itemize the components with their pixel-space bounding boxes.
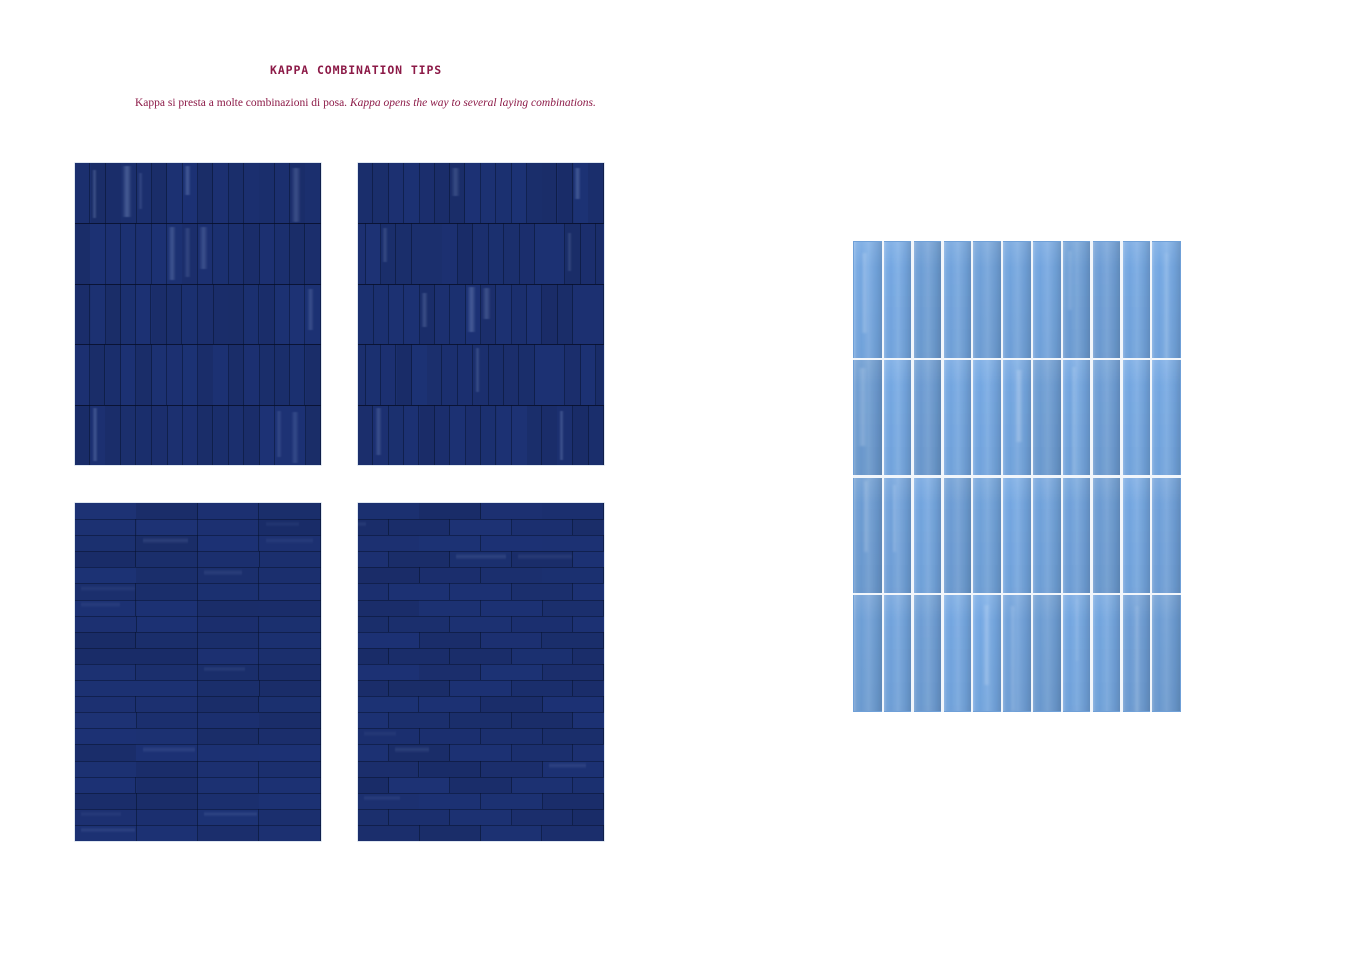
tile — [504, 344, 519, 404]
tile — [496, 284, 511, 344]
tile — [389, 744, 451, 760]
tile — [260, 616, 322, 632]
tile — [198, 809, 260, 825]
tile — [573, 519, 604, 535]
tile — [358, 344, 366, 404]
tile — [358, 519, 389, 535]
tile — [183, 163, 198, 223]
tile — [137, 405, 152, 465]
tile — [137, 809, 199, 825]
tile — [542, 567, 604, 583]
grout-line-horizontal — [358, 600, 604, 601]
tile — [136, 728, 198, 744]
tile-row — [75, 809, 321, 825]
tile — [1152, 595, 1179, 710]
tile-row — [75, 567, 321, 583]
tile — [458, 223, 473, 283]
tile — [481, 793, 543, 809]
tile-row — [358, 712, 604, 728]
tile — [1063, 242, 1090, 357]
tile — [75, 503, 137, 519]
tile — [259, 728, 321, 744]
tile — [481, 825, 543, 841]
tile — [137, 616, 199, 632]
tile — [543, 728, 604, 744]
tile — [275, 344, 290, 404]
tile-row — [75, 777, 321, 793]
tile — [198, 664, 260, 680]
tile-row — [358, 744, 604, 760]
tile — [358, 696, 419, 712]
tile-row — [75, 519, 321, 535]
tile — [450, 648, 512, 664]
tile — [260, 583, 321, 599]
tile — [75, 664, 136, 680]
tile — [75, 728, 137, 744]
tile — [1033, 478, 1060, 593]
tile — [358, 632, 420, 648]
tile — [542, 535, 604, 551]
tile — [542, 503, 604, 519]
tile — [512, 163, 527, 223]
tile-row — [358, 761, 604, 777]
tile — [404, 405, 419, 465]
tile — [198, 761, 260, 777]
tile-row — [75, 583, 321, 599]
tile — [443, 344, 458, 404]
tile — [358, 583, 389, 599]
tile — [589, 405, 604, 465]
tile — [550, 344, 565, 404]
tile — [373, 405, 388, 465]
tile — [167, 163, 182, 223]
tile — [465, 163, 480, 223]
page-title: KAPPA COMBINATION TIPS — [270, 63, 442, 77]
tile — [137, 712, 199, 728]
tile — [543, 761, 604, 777]
tile-row — [75, 680, 321, 696]
tile — [442, 223, 457, 283]
tile-row — [358, 648, 604, 664]
tile-row — [75, 284, 321, 344]
tile — [167, 344, 182, 404]
tile — [854, 595, 881, 710]
tile — [152, 284, 167, 344]
tile — [182, 284, 197, 344]
tile — [1033, 360, 1060, 475]
tile — [581, 223, 596, 283]
tile-row — [75, 223, 321, 283]
tile — [473, 223, 488, 283]
grout-line-horizontal — [358, 535, 604, 536]
tile — [290, 344, 305, 404]
tile — [260, 284, 275, 344]
tile — [557, 405, 572, 465]
tile — [290, 163, 305, 223]
tile — [136, 744, 198, 760]
tile — [1063, 360, 1090, 475]
tile — [450, 680, 512, 696]
tile — [259, 793, 321, 809]
tile — [596, 344, 604, 404]
tile — [435, 163, 450, 223]
tile — [512, 712, 574, 728]
grout-line-horizontal — [358, 761, 604, 762]
grout-line-horizontal — [75, 825, 321, 826]
tile-row — [358, 551, 604, 567]
tile — [512, 744, 574, 760]
tile — [182, 223, 197, 283]
tile — [573, 712, 604, 728]
tile — [481, 696, 543, 712]
tile — [198, 648, 260, 664]
tile — [137, 163, 152, 223]
tile — [450, 405, 465, 465]
tile — [420, 284, 435, 344]
tile — [198, 163, 213, 223]
tile — [420, 825, 482, 841]
tile-row — [358, 793, 604, 809]
tile — [358, 664, 420, 680]
tile — [389, 583, 451, 599]
tile — [137, 825, 199, 841]
tile-row — [75, 551, 321, 567]
grout-line-horizontal — [358, 793, 604, 794]
tile — [168, 405, 183, 465]
tile-row — [75, 664, 321, 680]
tile — [358, 567, 420, 583]
tile — [259, 696, 321, 712]
tile — [358, 616, 389, 632]
tile — [389, 519, 451, 535]
tile — [198, 744, 260, 760]
tile — [574, 163, 589, 223]
tile — [198, 600, 260, 616]
tile — [1033, 595, 1060, 710]
tile — [198, 680, 260, 696]
tile — [450, 583, 512, 599]
tile — [419, 535, 481, 551]
tile — [466, 284, 481, 344]
tile — [366, 223, 381, 283]
tile — [358, 712, 389, 728]
tile — [121, 163, 136, 223]
tile-row — [358, 223, 604, 283]
tile — [90, 223, 105, 283]
tile — [75, 632, 136, 648]
tile — [558, 284, 573, 344]
tile — [1063, 478, 1090, 593]
tile — [260, 680, 321, 696]
tile — [260, 223, 275, 283]
tile — [481, 632, 543, 648]
tile — [198, 551, 260, 567]
tile — [435, 405, 450, 465]
tile — [973, 242, 1000, 357]
tile — [435, 284, 450, 344]
tile — [420, 567, 482, 583]
tile-row — [358, 503, 604, 519]
grout-line-horizontal — [75, 600, 321, 601]
tile — [427, 223, 442, 283]
tile — [543, 793, 604, 809]
tile-row — [75, 632, 321, 648]
tile-row — [358, 696, 604, 712]
tile — [450, 744, 512, 760]
grout-line-horizontal — [853, 358, 1181, 360]
tile — [75, 696, 136, 712]
tile — [75, 616, 137, 632]
tile — [450, 551, 512, 567]
tile — [1123, 595, 1150, 710]
tile-row — [358, 284, 604, 344]
tile-row — [358, 728, 604, 744]
tile — [306, 344, 321, 404]
tile — [260, 344, 275, 404]
grout-line-horizontal — [75, 344, 321, 345]
tile — [573, 284, 588, 344]
tile-row — [75, 728, 321, 744]
tile — [198, 405, 213, 465]
tile — [228, 284, 243, 344]
tile — [358, 777, 389, 793]
tile — [136, 696, 198, 712]
tile — [136, 583, 198, 599]
grout-line-horizontal — [358, 648, 604, 649]
tile — [588, 284, 603, 344]
tile — [1093, 478, 1120, 593]
tile — [404, 284, 419, 344]
grout-line-horizontal — [358, 728, 604, 729]
tile — [136, 567, 198, 583]
tile — [374, 284, 389, 344]
tile — [167, 223, 182, 283]
tile — [543, 600, 604, 616]
tile — [1033, 242, 1060, 357]
tile — [389, 680, 451, 696]
tile — [1123, 242, 1150, 357]
tile — [512, 551, 574, 567]
tile — [183, 405, 198, 465]
tile — [450, 777, 512, 793]
tile — [573, 744, 604, 760]
tile — [244, 344, 259, 404]
tile — [121, 223, 136, 283]
tile — [1093, 360, 1120, 475]
tile — [106, 163, 121, 223]
tile — [1093, 595, 1120, 710]
tile — [396, 223, 411, 283]
grout-line-horizontal — [358, 825, 604, 826]
tile — [366, 344, 381, 404]
tile — [512, 519, 574, 535]
grout-line-horizontal — [358, 223, 604, 224]
tile — [137, 519, 199, 535]
tile — [91, 405, 106, 465]
tile-row — [75, 600, 321, 616]
tile — [914, 360, 941, 475]
tile — [1003, 595, 1030, 710]
grout-line-horizontal — [75, 728, 321, 729]
tile — [419, 600, 481, 616]
tile-row — [358, 405, 604, 465]
grout-line-horizontal — [358, 551, 604, 552]
tile — [75, 567, 137, 583]
intro-text-english: Kappa opens the way to several laying co… — [350, 97, 596, 109]
tile — [106, 284, 121, 344]
tile-row — [75, 761, 321, 777]
grout-line-horizontal — [75, 535, 321, 536]
tile — [419, 696, 481, 712]
tile — [75, 809, 137, 825]
tile — [136, 535, 198, 551]
tile — [481, 600, 543, 616]
tile — [358, 551, 389, 567]
tile — [167, 284, 182, 344]
tile — [259, 664, 321, 680]
tile — [260, 648, 321, 664]
grout-line-horizontal — [75, 284, 321, 285]
tile — [427, 344, 442, 404]
tile — [75, 777, 136, 793]
tile — [543, 696, 604, 712]
grout-line-horizontal — [853, 475, 1181, 477]
tile — [259, 777, 321, 793]
grout-line-horizontal — [75, 405, 321, 406]
grout-line-horizontal — [358, 344, 604, 345]
tile-row — [75, 793, 321, 809]
tile — [152, 163, 167, 223]
tile — [358, 405, 373, 465]
tile-row — [75, 344, 321, 404]
tile — [198, 284, 213, 344]
tile — [75, 344, 90, 404]
tile — [389, 809, 451, 825]
tile — [198, 728, 260, 744]
tile — [854, 242, 881, 357]
tile — [389, 616, 451, 632]
tile — [573, 551, 604, 567]
tile — [596, 223, 604, 283]
tile — [973, 360, 1000, 475]
tile — [75, 600, 136, 616]
tile-row — [358, 664, 604, 680]
grout-line-horizontal — [358, 696, 604, 697]
tile — [198, 712, 260, 728]
tile — [259, 825, 321, 841]
tile — [573, 405, 588, 465]
tile — [305, 163, 320, 223]
tile — [306, 405, 321, 465]
grout-line-horizontal — [358, 616, 604, 617]
tile — [573, 777, 604, 793]
tile-row — [358, 163, 604, 223]
tile — [389, 712, 451, 728]
tile — [358, 503, 420, 519]
tile — [973, 478, 1000, 593]
tile — [275, 284, 290, 344]
tile — [358, 680, 389, 696]
tile — [573, 616, 604, 632]
tile — [565, 344, 580, 404]
tile — [481, 284, 496, 344]
tile — [358, 825, 420, 841]
tile — [137, 793, 199, 809]
tile — [535, 344, 550, 404]
tile — [419, 664, 481, 680]
tile — [121, 405, 136, 465]
grout-line-horizontal — [358, 567, 604, 568]
tile — [275, 405, 290, 465]
tile — [419, 793, 481, 809]
tile — [527, 163, 542, 223]
grout-line-horizontal — [358, 664, 604, 665]
photo-lightblue-wall — [853, 241, 1181, 712]
tile — [944, 242, 971, 357]
tile — [512, 284, 527, 344]
tile — [75, 680, 137, 696]
tile-row — [358, 600, 604, 616]
tile — [75, 825, 137, 841]
tile — [121, 344, 136, 404]
tile — [198, 567, 260, 583]
tile — [75, 405, 90, 465]
tile — [214, 284, 229, 344]
tile — [1063, 595, 1090, 710]
tile-row — [358, 535, 604, 551]
tile — [198, 632, 260, 648]
tile — [305, 284, 320, 344]
tile — [106, 223, 121, 283]
tile — [136, 344, 151, 404]
grout-line-horizontal — [358, 405, 604, 406]
tile — [75, 744, 137, 760]
tile-row — [75, 535, 321, 551]
tile — [244, 284, 259, 344]
tile — [137, 664, 199, 680]
tile — [121, 284, 136, 344]
grout-line-horizontal — [75, 583, 321, 584]
tile-panel-horizontal-running — [358, 503, 604, 841]
tile — [75, 519, 136, 535]
tile — [137, 600, 199, 616]
tile — [152, 405, 167, 465]
tile — [152, 223, 167, 283]
tile — [198, 535, 260, 551]
tile — [91, 163, 106, 223]
intro-paragraph: Kappa si presta a molte combinazioni di … — [135, 97, 596, 109]
tile-row — [75, 744, 321, 760]
tile — [473, 344, 488, 404]
tile — [389, 551, 451, 567]
grout-line-horizontal — [75, 777, 321, 778]
tile — [481, 503, 543, 519]
tile — [520, 223, 535, 283]
tile — [550, 223, 565, 283]
tile — [420, 405, 435, 465]
tile-row — [358, 777, 604, 793]
tile — [75, 535, 136, 551]
grout-line-horizontal — [358, 632, 604, 633]
tile — [542, 284, 557, 344]
tile — [450, 616, 512, 632]
tile — [259, 163, 274, 223]
tile — [260, 809, 321, 825]
tile — [75, 712, 137, 728]
tile — [527, 284, 542, 344]
tile — [198, 503, 260, 519]
tile — [198, 583, 260, 599]
